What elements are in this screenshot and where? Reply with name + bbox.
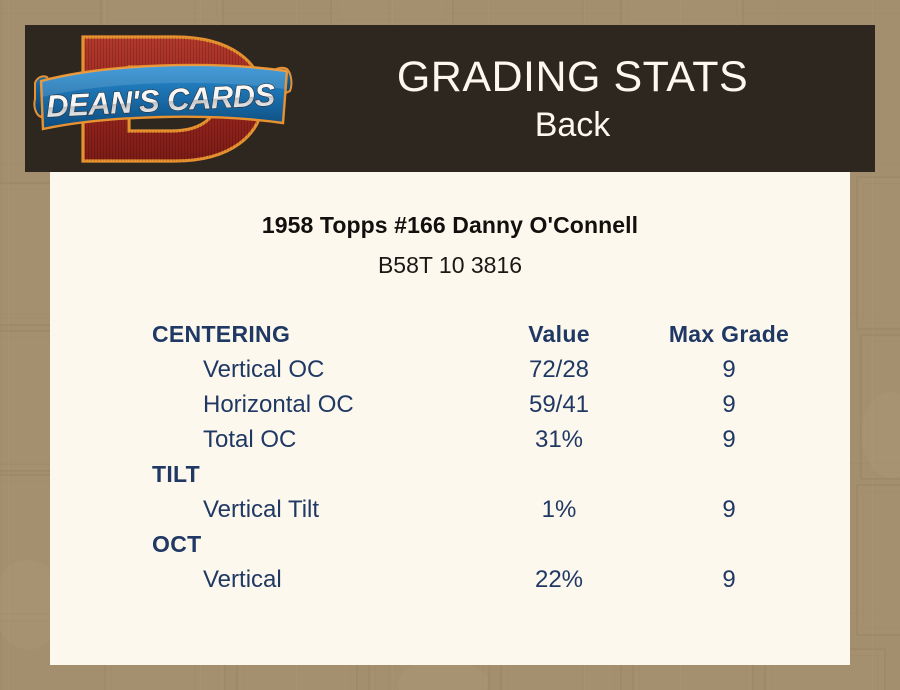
stat-label: Horizontal OC	[152, 387, 474, 422]
stat-max-grade: 9	[644, 422, 814, 457]
section-label: CENTERING	[152, 317, 474, 352]
table-row: Vertical Tilt1%9	[152, 492, 814, 527]
table-row: Vertical OC72/289	[152, 352, 814, 387]
stat-max-grade: 9	[644, 387, 814, 422]
content-panel: 1958 Topps #166 Danny O'Connell B58T 10 …	[50, 172, 850, 665]
stat-value: 31%	[474, 422, 644, 457]
stat-label: Vertical OC	[152, 352, 474, 387]
stat-value: 1%	[474, 492, 644, 527]
column-header-max-grade: Max Grade	[644, 317, 814, 352]
stat-value: 59/41	[474, 387, 644, 422]
card-identifier: B58T 10 3816	[50, 252, 850, 279]
card-title: 1958 Topps #166 Danny O'Connell	[50, 212, 850, 239]
deans-cards-logo[interactable]: DEAN'S CARDS	[25, 25, 300, 172]
grading-stats-section: CENTERINGValueMax GradeVertical OC72/289…	[50, 317, 850, 597]
section-header-row: OCT	[152, 527, 814, 562]
section-header-row: CENTERINGValueMax Grade	[152, 317, 814, 352]
column-header-value: Value	[474, 317, 644, 352]
stat-label: Vertical Tilt	[152, 492, 474, 527]
stat-max-grade: 9	[644, 492, 814, 527]
stat-value: 72/28	[474, 352, 644, 387]
section-header-row: TILT	[152, 457, 814, 492]
page-subtitle: Back	[300, 108, 845, 142]
section-spacer-grade	[644, 527, 814, 562]
page-title: GRADING STATS	[300, 56, 845, 99]
section-spacer-value	[474, 527, 644, 562]
table-row: Vertical22%9	[152, 562, 814, 597]
stat-max-grade: 9	[644, 352, 814, 387]
table-row: Total OC31%9	[152, 422, 814, 457]
grading-stats-body: CENTERINGValueMax GradeVertical OC72/289…	[152, 317, 814, 597]
section-spacer-grade	[644, 457, 814, 492]
section-spacer-value	[474, 457, 644, 492]
logo-svg: DEAN'S CARDS	[25, 25, 300, 172]
stat-label: Vertical	[152, 562, 474, 597]
section-label: TILT	[152, 457, 474, 492]
header-titles: GRADING STATS Back	[300, 56, 875, 142]
stat-max-grade: 9	[644, 562, 814, 597]
section-label: OCT	[152, 527, 474, 562]
table-row: Horizontal OC59/419	[152, 387, 814, 422]
stat-value: 22%	[474, 562, 644, 597]
grading-stats-page: DEAN'S CARDS GRADING STATS Back 1958 Top…	[0, 0, 900, 690]
header-bar: DEAN'S CARDS GRADING STATS Back	[25, 25, 875, 172]
grading-stats-table: CENTERINGValueMax GradeVertical OC72/289…	[152, 317, 814, 597]
stat-label: Total OC	[152, 422, 474, 457]
